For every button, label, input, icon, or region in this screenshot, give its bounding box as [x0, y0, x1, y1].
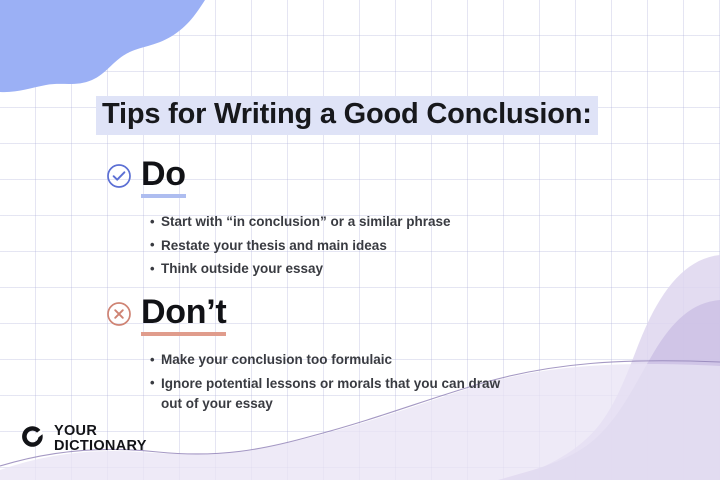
logo-wordmark: YOUR DICTIONARY [54, 424, 147, 454]
dont-heading-row: Don’t [106, 296, 511, 336]
page-title: Tips for Writing a Good Conclusion: [96, 96, 598, 135]
dont-bullet-list: Make your conclusion too formulaic Ignor… [106, 350, 511, 415]
list-item: Start with “in conclusion” or a similar … [150, 212, 451, 233]
section-do: Do Start with “in conclusion” or a simil… [106, 158, 451, 283]
logo-line-2: DICTIONARY [54, 439, 147, 454]
list-item: Think outside your essay [150, 259, 451, 280]
do-heading-label: Do [141, 158, 186, 198]
yourdictionary-ring-icon [20, 424, 45, 454]
list-item: Make your conclusion too formulaic [150, 350, 511, 371]
logo-line-1: YOUR [54, 424, 147, 439]
infographic-canvas: Tips for Writing a Good Conclusion: Do S… [0, 0, 720, 480]
yourdictionary-logo[interactable]: YOUR DICTIONARY [20, 424, 147, 454]
x-circle-icon [106, 301, 132, 332]
list-item: Ignore potential lessons or morals that … [150, 374, 511, 415]
dont-heading-label: Don’t [141, 296, 226, 336]
do-heading-row: Do [106, 158, 451, 198]
check-circle-icon [106, 163, 132, 194]
do-bullet-list: Start with “in conclusion” or a similar … [106, 212, 451, 280]
section-dont: Don’t Make your conclusion too formulaic… [106, 296, 511, 418]
list-item: Restate your thesis and main ideas [150, 236, 451, 257]
